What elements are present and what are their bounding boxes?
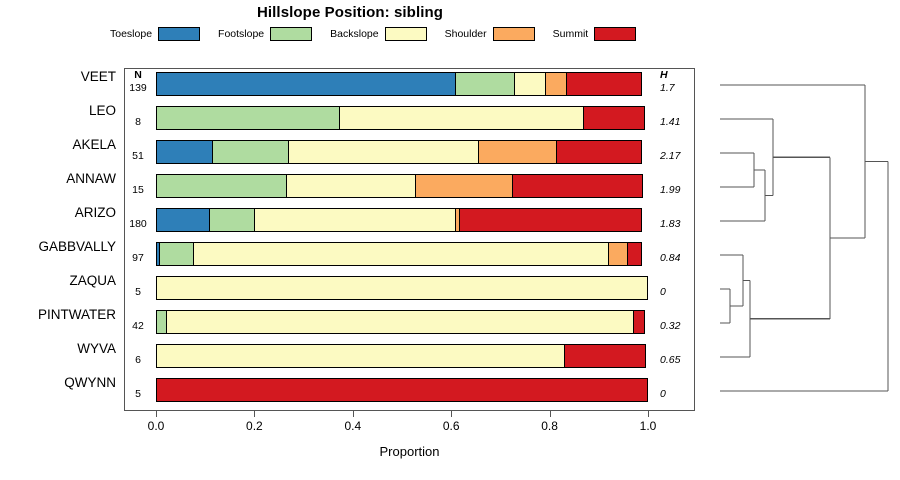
row-h-value: 0 [660, 388, 696, 400]
x-axis-tick-label: 0.0 [136, 419, 176, 433]
row-label-qwynn: QWYNN [0, 375, 116, 391]
x-axis-tick-label: 1.0 [628, 419, 668, 433]
bar-segment [514, 72, 546, 96]
page-title: Hillslope Position: sibling [0, 4, 700, 21]
legend-label-shoulder: Shoulder [445, 28, 487, 40]
row-label-pintwater: PINTWATER [0, 307, 116, 323]
bar-segment [627, 242, 642, 266]
legend-swatch-footslope [270, 27, 312, 41]
x-axis-tick-label: 0.8 [530, 419, 570, 433]
bar-segment [159, 242, 194, 266]
row-h-value: 2.17 [660, 150, 696, 162]
legend-item-summit: Summit [553, 27, 637, 41]
bar-segment [455, 72, 517, 96]
legend-label-toeslope: Toeslope [110, 28, 152, 40]
x-axis-tick [353, 411, 354, 417]
x-axis: Proportion 0.00.20.40.60.81.0 [0, 411, 900, 471]
row-h-value: 1.83 [660, 218, 696, 230]
bar-segment [156, 72, 456, 96]
row-n-value: 6 [124, 354, 152, 366]
stacked-bar [156, 208, 648, 232]
bar-segment [415, 174, 513, 198]
row-h-value: 0 [660, 286, 696, 298]
legend-swatch-shoulder [493, 27, 535, 41]
row-label-veet: VEET [0, 69, 116, 85]
row-h-value: 0.65 [660, 354, 696, 366]
row-n-value: 180 [124, 218, 152, 230]
dendrogram [700, 60, 900, 420]
x-axis-tick-label: 0.4 [333, 419, 373, 433]
legend-item-shoulder: Shoulder [445, 27, 535, 41]
bar-segment [545, 72, 568, 96]
x-axis-tick [550, 411, 551, 417]
row-label-arizo: ARIZO [0, 205, 116, 221]
bar-segment [156, 344, 566, 368]
x-axis-tick [156, 411, 157, 417]
bar-segment [478, 140, 557, 164]
bar-segment [156, 174, 287, 198]
legend-swatch-backslope [385, 27, 427, 41]
bar-segment [556, 140, 642, 164]
stacked-bar [156, 106, 648, 130]
dendrogram-svg [700, 60, 900, 420]
bar-segment [583, 106, 645, 130]
bar-segment [339, 106, 585, 130]
row-h-value: 1.41 [660, 116, 696, 128]
bar-segment [254, 208, 456, 232]
stacked-bar [156, 140, 648, 164]
row-n-value: 139 [124, 82, 152, 94]
bar-segment [633, 310, 645, 334]
row-label-akela: AKELA [0, 137, 116, 153]
x-axis-tick [254, 411, 255, 417]
bar-segment [564, 344, 646, 368]
stacked-bar [156, 344, 648, 368]
stacked-bar [156, 310, 648, 334]
legend-item-backslope: Backslope [330, 27, 426, 41]
x-axis-tick-label: 0.2 [234, 419, 274, 433]
row-h-value: 1.99 [660, 184, 696, 196]
stacked-bar [156, 242, 648, 266]
bar-segment [156, 140, 214, 164]
legend-item-footslope: Footslope [218, 27, 312, 41]
row-h-value: 0.84 [660, 252, 696, 264]
legend-swatch-summit [594, 27, 636, 41]
row-label-leo: LEO [0, 103, 116, 119]
legend: Toeslope Footslope Backslope Shoulder Su… [110, 25, 690, 43]
row-n-value: 5 [124, 286, 152, 298]
bar-segment [156, 208, 210, 232]
x-axis-tick [648, 411, 649, 417]
legend-item-toeslope: Toeslope [110, 27, 200, 41]
legend-swatch-toeslope [158, 27, 200, 41]
bar-segment [566, 72, 641, 96]
row-n-value: 97 [124, 252, 152, 264]
row-label-annaw: ANNAW [0, 171, 116, 187]
row-label-gabbvally: GABBVALLY [0, 239, 116, 255]
stacked-bar [156, 72, 648, 96]
row-n-value: 15 [124, 184, 152, 196]
stacked-bar [156, 174, 648, 198]
bar-segment [286, 174, 417, 198]
bar-segment [608, 242, 629, 266]
bar-segment [288, 140, 480, 164]
stacked-bar [156, 378, 648, 402]
bar-segment [459, 208, 642, 232]
row-h-value: 0.32 [660, 320, 696, 332]
row-n-value: 8 [124, 116, 152, 128]
legend-label-summit: Summit [553, 28, 589, 40]
x-axis-title: Proportion [124, 444, 695, 459]
x-axis-tick-label: 0.6 [431, 419, 471, 433]
bar-segment [156, 106, 341, 130]
row-label-wyva: WYVA [0, 341, 116, 357]
bar-segment [512, 174, 643, 198]
row-n-value: 42 [124, 320, 152, 332]
x-axis-tick [451, 411, 452, 417]
row-h-value: 1.7 [660, 82, 696, 94]
bar-segment [212, 140, 289, 164]
bar-segment [156, 276, 648, 300]
row-n-value: 5 [124, 388, 152, 400]
bar-segment [209, 208, 256, 232]
row-label-zaqua: ZAQUA [0, 273, 116, 289]
bar-segment [156, 378, 648, 402]
row-n-value: 51 [124, 150, 152, 162]
bar-segment [193, 242, 609, 266]
stacked-bar [156, 276, 648, 300]
bar-segment [166, 310, 634, 334]
legend-label-backslope: Backslope [330, 28, 378, 40]
legend-label-footslope: Footslope [218, 28, 264, 40]
chart-root: Hillslope Position: sibling Toeslope Foo… [0, 0, 900, 480]
